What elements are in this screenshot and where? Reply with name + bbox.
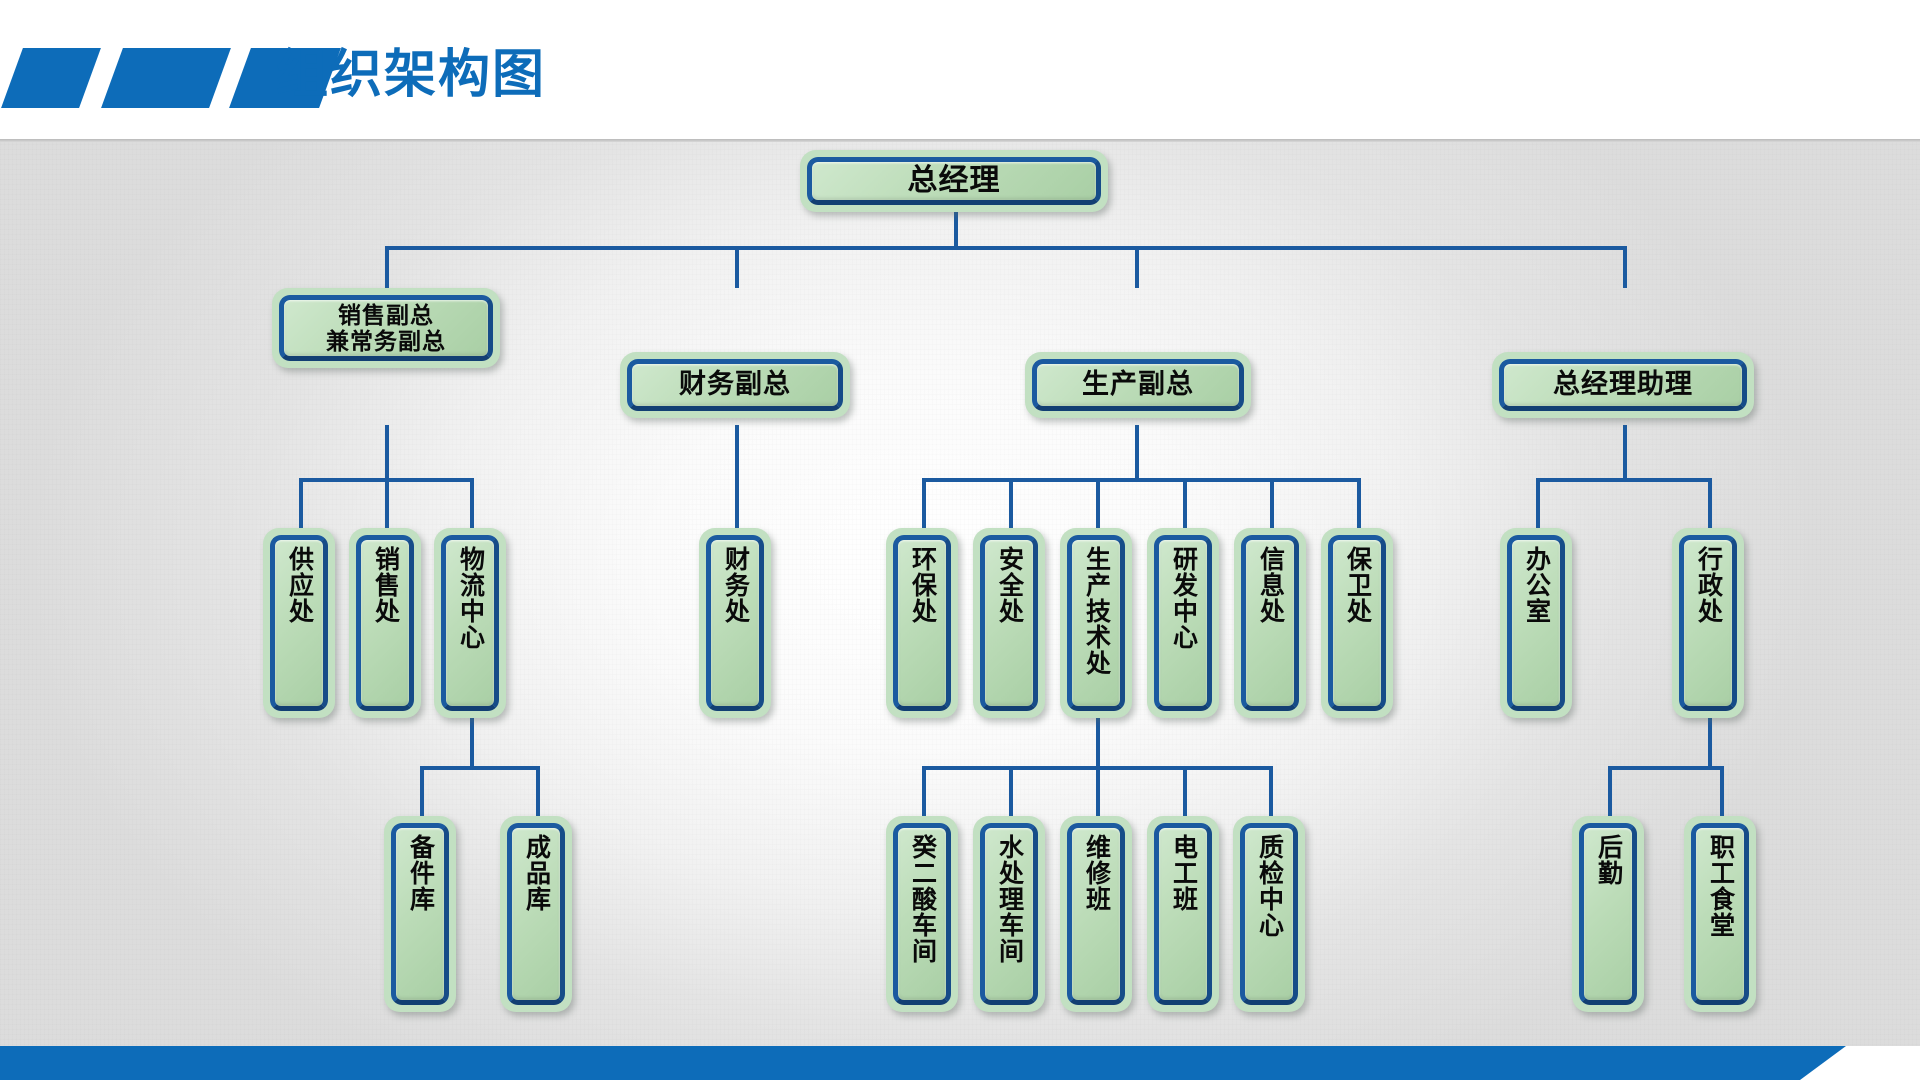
connector-drop-env xyxy=(922,478,926,528)
node-sebacic-inner: 癸二酸车间 xyxy=(893,823,951,1005)
node-water-label: 水处理车间 xyxy=(997,834,1022,964)
node-sales-vp-inner: 销售副总 兼常务副总 xyxy=(279,295,493,361)
node-canteen[interactable]: 职工食堂 xyxy=(1684,816,1756,1012)
node-safety[interactable]: 安全处 xyxy=(973,528,1045,718)
node-finance-dept-inner: 财务处 xyxy=(706,535,764,711)
node-canteen-inner: 职工食堂 xyxy=(1691,823,1749,1005)
node-sales-dept-inner: 销售处 xyxy=(356,535,414,711)
node-qc-label: 质检中心 xyxy=(1257,834,1282,938)
node-electric-inner: 电工班 xyxy=(1154,823,1212,1005)
connector-drop-gm-assist xyxy=(1623,246,1627,288)
node-canteen-label: 职工食堂 xyxy=(1708,834,1733,938)
node-supply[interactable]: 供应处 xyxy=(263,528,335,718)
node-spare-parts-label: 备件库 xyxy=(408,834,433,912)
connector-drop-supply xyxy=(299,478,303,528)
node-maintenance[interactable]: 维修班 xyxy=(1060,816,1132,1012)
node-supply-label: 供应处 xyxy=(287,546,312,624)
node-admin-inner: 行政处 xyxy=(1679,535,1737,711)
node-prod-vp[interactable]: 生产副总 xyxy=(1025,352,1251,418)
slide-canvas: 组织架构图 总经理 xyxy=(0,0,1920,1080)
node-water[interactable]: 水处理车间 xyxy=(973,816,1045,1012)
connector-stem-gm-assist xyxy=(1623,425,1627,480)
node-maintenance-label: 维修班 xyxy=(1084,834,1109,912)
connector-stem-sales-vp xyxy=(385,425,389,480)
connector-drop-spare-parts xyxy=(420,766,424,816)
footer-band xyxy=(0,1046,1920,1080)
node-admin[interactable]: 行政处 xyxy=(1672,528,1744,718)
node-prod-tech[interactable]: 生产技术处 xyxy=(1060,528,1132,718)
node-gm-assist-label: 总经理助理 xyxy=(1553,370,1693,399)
connector-drop-prod-tech xyxy=(1096,478,1100,528)
node-finance-vp-inner: 财务副总 xyxy=(627,359,843,411)
node-sales-vp-label: 销售副总 兼常务副总 xyxy=(326,302,446,355)
node-electric-label: 电工班 xyxy=(1171,834,1196,912)
node-office[interactable]: 办公室 xyxy=(1500,528,1572,718)
connector-drop-water xyxy=(1009,766,1013,816)
connector-stem-logistics xyxy=(470,714,474,768)
node-root-label: 总经理 xyxy=(908,165,1001,197)
node-spare-parts[interactable]: 备件库 xyxy=(384,816,456,1012)
connector-drop-electric xyxy=(1183,766,1187,816)
node-office-label: 办公室 xyxy=(1524,546,1549,624)
node-info-label: 信息处 xyxy=(1258,546,1283,624)
node-sales-dept-label: 销售处 xyxy=(373,546,398,624)
node-safety-label: 安全处 xyxy=(997,546,1022,624)
connector-stem-finance-vp xyxy=(735,425,739,528)
node-prod-vp-label: 生产副总 xyxy=(1082,370,1194,399)
node-supply-inner: 供应处 xyxy=(270,535,328,711)
node-gm-assist-inner: 总经理助理 xyxy=(1499,359,1747,411)
node-finished[interactable]: 成品库 xyxy=(500,816,572,1012)
node-finished-inner: 成品库 xyxy=(507,823,565,1005)
connector-drop-admin xyxy=(1708,478,1712,528)
connector-level2-bus xyxy=(385,246,1627,250)
connector-drop-maintenance xyxy=(1096,766,1100,816)
node-env-label: 环保处 xyxy=(910,546,935,624)
connector-bus-admin xyxy=(1608,766,1724,770)
node-security-label: 保卫处 xyxy=(1345,546,1370,624)
connector-drop-finished xyxy=(536,766,540,816)
node-prod-vp-inner: 生产副总 xyxy=(1032,359,1244,411)
connector-drop-info xyxy=(1270,478,1274,528)
node-finance-dept[interactable]: 财务处 xyxy=(699,528,771,718)
connector-drop-sales-dept xyxy=(385,478,389,528)
connector-drop-safety xyxy=(1009,478,1013,528)
connector-drop-canteen xyxy=(1720,766,1724,816)
node-qc[interactable]: 质检中心 xyxy=(1233,816,1305,1012)
connector-drop-sales-vp xyxy=(385,246,389,288)
connector-drop-logistics xyxy=(470,478,474,528)
node-admin-label: 行政处 xyxy=(1696,546,1721,624)
connector-drop-security xyxy=(1357,478,1361,528)
node-safety-inner: 安全处 xyxy=(980,535,1038,711)
node-electric[interactable]: 电工班 xyxy=(1147,816,1219,1012)
node-rnd-label: 研发中心 xyxy=(1171,546,1196,650)
connector-stem-prod-tech xyxy=(1096,714,1100,768)
node-water-inner: 水处理车间 xyxy=(980,823,1038,1005)
node-info-inner: 信息处 xyxy=(1241,535,1299,711)
node-security-inner: 保卫处 xyxy=(1328,535,1386,711)
connector-stem-prod-vp xyxy=(1135,425,1139,480)
node-logistics-sup-label: 后勤 xyxy=(1596,834,1621,886)
node-logistics[interactable]: 物流中心 xyxy=(434,528,506,718)
node-gm-assist[interactable]: 总经理助理 xyxy=(1492,352,1754,418)
connector-drop-office xyxy=(1536,478,1540,528)
node-sebacic[interactable]: 癸二酸车间 xyxy=(886,816,958,1012)
node-finance-vp[interactable]: 财务副总 xyxy=(620,352,850,418)
connector-drop-qc xyxy=(1269,766,1273,816)
node-env-inner: 环保处 xyxy=(893,535,951,711)
node-info[interactable]: 信息处 xyxy=(1234,528,1306,718)
connector-bus-prod-vp xyxy=(922,478,1359,482)
node-logistics-sup-inner: 后勤 xyxy=(1579,823,1637,1005)
node-prod-tech-label: 生产技术处 xyxy=(1084,546,1109,676)
connector-drop-logistics-sup xyxy=(1608,766,1612,816)
connector-bus-gm-assist xyxy=(1536,478,1712,482)
node-spare-parts-inner: 备件库 xyxy=(391,823,449,1005)
node-sebacic-label: 癸二酸车间 xyxy=(910,834,935,964)
node-logistics-label: 物流中心 xyxy=(458,546,483,650)
connector-drop-finance-vp xyxy=(735,246,739,288)
node-sales-dept[interactable]: 销售处 xyxy=(349,528,421,718)
connector-drop-sebacic xyxy=(922,766,926,816)
decor-slash-2 xyxy=(101,48,231,108)
page-title: 组织架构图 xyxy=(276,44,546,106)
node-finance-dept-label: 财务处 xyxy=(723,546,748,624)
node-prod-tech-inner: 生产技术处 xyxy=(1067,535,1125,711)
node-root[interactable]: 总经理 xyxy=(800,150,1108,212)
node-finance-vp-label: 财务副总 xyxy=(679,370,791,399)
connector-bus-logistics xyxy=(420,766,540,770)
node-office-inner: 办公室 xyxy=(1507,535,1565,711)
connector-drop-prod-vp xyxy=(1135,246,1139,288)
node-sales-vp[interactable]: 销售副总 兼常务副总 xyxy=(272,288,500,368)
node-maintenance-inner: 维修班 xyxy=(1067,823,1125,1005)
node-security[interactable]: 保卫处 xyxy=(1321,528,1393,718)
node-qc-inner: 质检中心 xyxy=(1240,823,1298,1005)
node-env[interactable]: 环保处 xyxy=(886,528,958,718)
node-finished-label: 成品库 xyxy=(524,834,549,912)
connector-drop-rnd xyxy=(1183,478,1187,528)
node-root-inner: 总经理 xyxy=(807,157,1101,205)
node-logistics-inner: 物流中心 xyxy=(441,535,499,711)
node-rnd[interactable]: 研发中心 xyxy=(1147,528,1219,718)
header-divider xyxy=(0,139,1920,142)
connector-stem-admin xyxy=(1708,714,1712,768)
node-logistics-sup[interactable]: 后勤 xyxy=(1572,816,1644,1012)
node-rnd-inner: 研发中心 xyxy=(1154,535,1212,711)
